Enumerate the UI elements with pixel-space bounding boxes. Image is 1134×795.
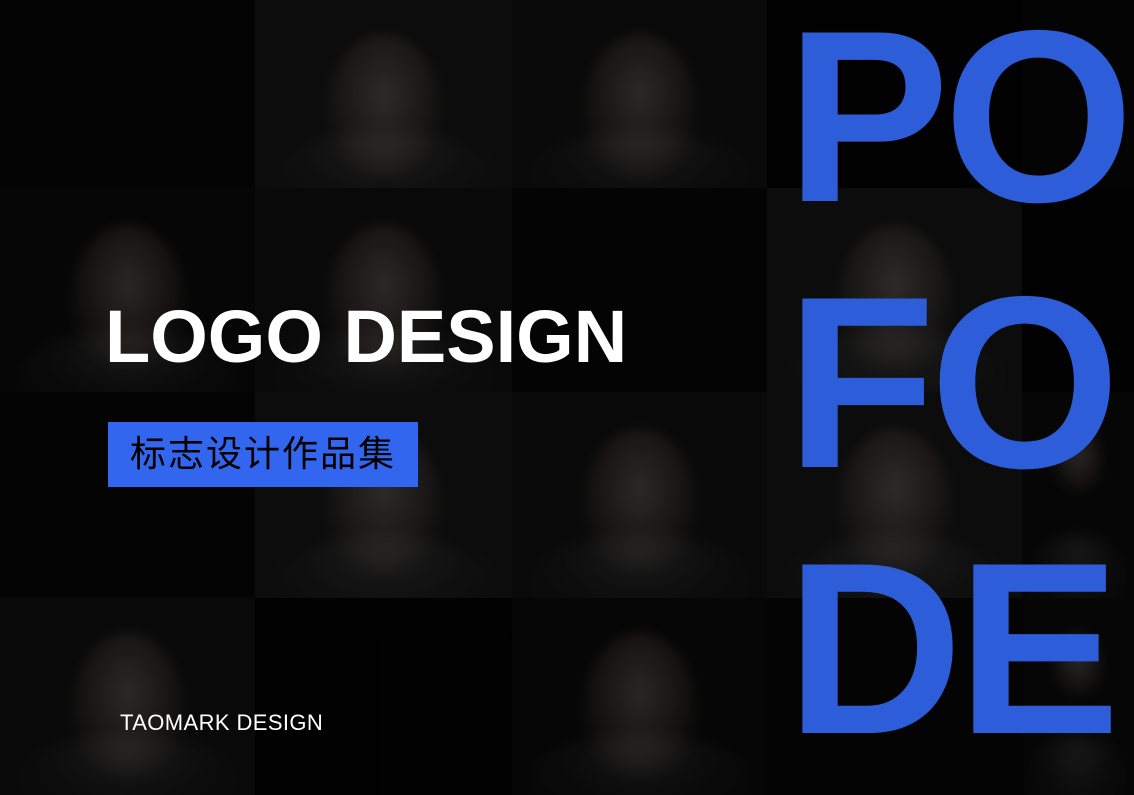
page-title: LOGO DESIGN <box>105 300 745 374</box>
photo-cell-r2c5 <box>1022 188 1134 392</box>
photo-cell-r4c2 <box>255 598 512 795</box>
photo-cell-r1c5 <box>1022 0 1134 188</box>
photo-cell-r1c1 <box>0 0 255 188</box>
photo-cell-r4c1 <box>0 598 255 795</box>
headline-block: LOGO DESIGN 标志设计作品集 <box>105 300 745 487</box>
photo-cell-r1c4 <box>767 0 1022 188</box>
photo-cell-r1c2 <box>255 0 512 188</box>
photo-cell-r2c4 <box>767 188 1022 392</box>
studio-credit: TAOMARK DESIGN <box>120 710 323 736</box>
photo-cell-r4c4 <box>767 598 1022 795</box>
photo-cell-r3c4 <box>767 392 1022 598</box>
photo-cell-r4c5 <box>1022 598 1134 795</box>
photo-cell-r4c3 <box>512 598 767 795</box>
subtitle-badge: 标志设计作品集 <box>108 422 418 487</box>
photo-cell-r3c5 <box>1022 392 1134 598</box>
photo-cell-r1c3 <box>512 0 767 188</box>
poster-canvas: PO FO DE LOGO DESIGN 标志设计作品集 TAOMARK DES… <box>0 0 1134 795</box>
